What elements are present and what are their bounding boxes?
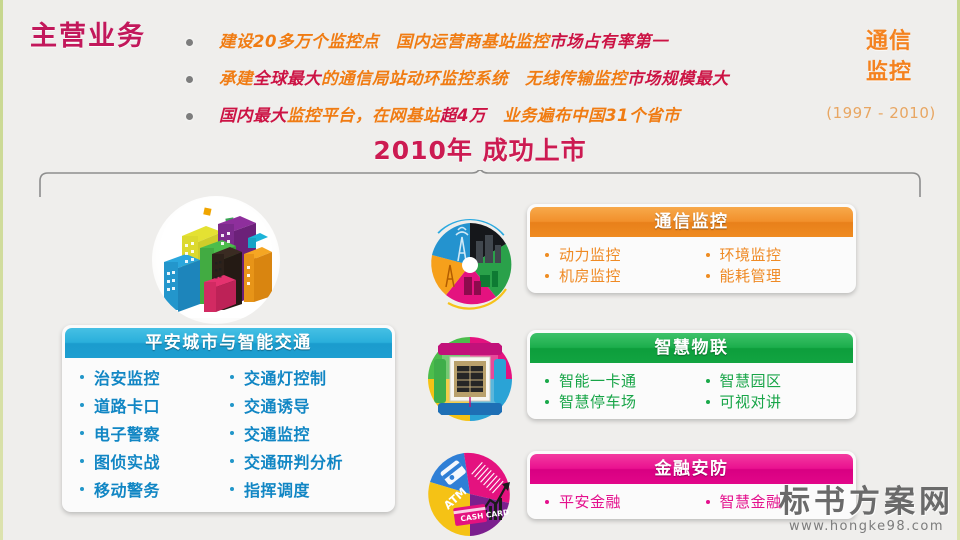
panel-item-label: 治安监控 — [94, 365, 160, 389]
bullet-segment: 国内最大 — [219, 106, 287, 125]
bullet-dot-icon — [186, 76, 193, 83]
panel-row: 道路卡口交通诱导 — [66, 393, 391, 417]
ipo-milestone-text: 2010年 成功上市 — [0, 131, 960, 167]
panel-item-label: 智能一卡通 — [559, 370, 637, 391]
panel-item[interactable]: 移动警务 — [66, 477, 216, 501]
panel-item[interactable]: 交通研判分析 — [216, 449, 391, 473]
panel-row: 图侦实战交通研判分析 — [66, 449, 391, 473]
grouping-brace — [38, 170, 922, 198]
bullet-line: 建设20多万个监控点 国内运营商基站监控市场占有率第一 — [186, 28, 866, 65]
item-dot-icon — [80, 403, 84, 407]
item-dot-icon — [545, 379, 549, 383]
panel-item[interactable]: 能耗管理 — [692, 265, 853, 286]
panel-item[interactable]: 智慧园区 — [692, 370, 853, 391]
panel-items-finance: 平安金融智慧金融 — [527, 484, 856, 519]
panel-title-finance: 金融安防 — [530, 454, 853, 484]
smart-card-icon — [424, 333, 516, 425]
panel-item[interactable]: 电子警察 — [66, 421, 216, 445]
panel-item-label: 能耗管理 — [720, 265, 782, 286]
panel-row: 智能一卡通智慧园区 — [531, 370, 852, 391]
item-dot-icon — [230, 375, 234, 379]
panel-item[interactable]: 可视对讲 — [692, 391, 853, 412]
year-range-label: (1997 - 2010) — [816, 104, 946, 122]
panel-item-label: 移动警务 — [94, 477, 160, 501]
item-dot-icon — [80, 431, 84, 435]
panel-item[interactable]: 平安金融 — [531, 491, 692, 512]
city-buildings-icon — [152, 196, 280, 324]
panel-item-label: 智慧停车场 — [559, 391, 637, 412]
item-dot-icon — [80, 375, 84, 379]
panel-item[interactable]: 指挥调度 — [216, 477, 391, 501]
panel-item-label: 智慧园区 — [720, 370, 782, 391]
panel-item[interactable]: 道路卡口 — [66, 393, 216, 417]
panel-row: 动力监控环境监控 — [531, 244, 852, 265]
panel-safe-city[interactable]: 平安城市与智能交通 治安监控交通灯控制道路卡口交通诱导电子警察交通监控图侦实战交… — [62, 325, 395, 512]
panel-items-safe-city: 治安监控交通灯控制道路卡口交通诱导电子警察交通监控图侦实战交通研判分析移动警务指… — [62, 358, 395, 512]
panel-title-safe-city: 平安城市与智能交通 — [65, 328, 392, 358]
bullet-segment — [379, 32, 396, 51]
panel-item-label: 智慧金融 — [720, 491, 782, 512]
panel-item-label: 交通监控 — [244, 421, 310, 445]
panel-item-label: 电子警察 — [94, 421, 160, 445]
item-dot-icon — [230, 431, 234, 435]
item-dot-icon — [545, 274, 549, 278]
bullet-segment: 建设20多万个监控点 — [219, 32, 379, 51]
bullet-segment: 市场规模最大 — [627, 69, 729, 88]
bullet-segment — [486, 106, 503, 125]
panel-item-label: 机房监控 — [559, 265, 621, 286]
panel-finance-security[interactable]: 金融安防 平安金融智慧金融 — [527, 451, 856, 519]
panel-items-iot: 智能一卡通智慧园区智慧停车场可视对讲 — [527, 363, 856, 419]
panel-row: 机房监控能耗管理 — [531, 265, 852, 286]
panel-items-telecom: 动力监控环境监控机房监控能耗管理 — [527, 237, 856, 293]
slide-canvas: 主营业务 建设20多万个监控点 国内运营商基站监控市场占有率第一承建全球最大的通… — [0, 0, 960, 540]
item-dot-icon — [545, 500, 549, 504]
item-dot-icon — [706, 379, 710, 383]
highlight-bullet-list: 建设20多万个监控点 国内运营商基站监控市场占有率第一承建全球最大的通信局站动环… — [186, 28, 866, 139]
bullet-segment: 全球最大 — [253, 69, 321, 88]
item-dot-icon — [706, 274, 710, 278]
panel-item-label: 道路卡口 — [94, 393, 160, 417]
panel-item[interactable]: 智慧停车场 — [531, 391, 692, 412]
finance-security-icon: ATM CASH CARD — [424, 448, 516, 540]
panel-item[interactable]: 交通监控 — [216, 421, 391, 445]
bullet-text: 建设20多万个监控点 国内运营商基站监控市场占有率第一 — [219, 28, 668, 56]
panel-item[interactable]: 交通灯控制 — [216, 365, 391, 389]
item-dot-icon — [80, 487, 84, 491]
watermark-url: www.hongke98.com — [779, 519, 954, 534]
bullet-segment: 市场占有率第一 — [549, 32, 668, 51]
panel-title-telecom: 通信监控 — [530, 207, 853, 237]
panel-item-label: 交通研判分析 — [244, 449, 343, 473]
item-dot-icon — [706, 500, 710, 504]
item-dot-icon — [80, 459, 84, 463]
panel-item[interactable]: 交通诱导 — [216, 393, 391, 417]
bullet-segment: 承建 — [219, 69, 253, 88]
item-dot-icon — [706, 253, 710, 257]
panel-telecom-monitoring[interactable]: 通信监控 动力监控环境监控机房监控能耗管理 — [527, 204, 856, 293]
panel-item-label: 动力监控 — [559, 244, 621, 265]
section-tag-line2: 监控 — [841, 57, 937, 88]
item-dot-icon — [706, 400, 710, 404]
item-dot-icon — [545, 400, 549, 404]
panel-item[interactable]: 动力监控 — [531, 244, 692, 265]
panel-item[interactable]: 图侦实战 — [66, 449, 216, 473]
panel-row: 治安监控交通灯控制 — [66, 365, 391, 389]
item-dot-icon — [230, 487, 234, 491]
section-tag: 通信 监控 — [841, 26, 937, 88]
bullet-text: 承建全球最大的通信局站动环监控系统 无线传输监控市场规模最大 — [219, 65, 729, 93]
bullet-segment — [508, 69, 525, 88]
panel-item[interactable]: 智能一卡通 — [531, 370, 692, 391]
panel-row: 移动警务指挥调度 — [66, 477, 391, 501]
bullet-text: 国内最大监控平台，在网基站超4万 业务遍布中国31个省市 — [219, 102, 680, 130]
bullet-segment: 超4万 — [440, 106, 486, 125]
panel-item-label: 交通灯控制 — [244, 365, 327, 389]
bullet-segment: 的通信局站动环监控系统 — [321, 69, 508, 88]
panel-item-label: 可视对讲 — [720, 391, 782, 412]
panel-item[interactable]: 治安监控 — [66, 365, 216, 389]
bullet-dot-icon — [186, 39, 193, 46]
panel-item-label: 环境监控 — [720, 244, 782, 265]
bullet-segment: 业务遍布中国31个省市 — [503, 106, 680, 125]
panel-row: 智慧停车场可视对讲 — [531, 391, 852, 412]
telecom-monitoring-icon — [424, 219, 516, 311]
bullet-dot-icon — [186, 113, 193, 120]
panel-item-label: 图侦实战 — [94, 449, 160, 473]
page-title: 主营业务 — [30, 14, 146, 53]
item-dot-icon — [230, 403, 234, 407]
item-dot-icon — [230, 459, 234, 463]
panel-item[interactable]: 环境监控 — [692, 244, 853, 265]
section-tag-line1: 通信 — [841, 26, 937, 57]
item-dot-icon — [545, 253, 549, 257]
bullet-line: 承建全球最大的通信局站动环监控系统 无线传输监控市场规模最大 — [186, 65, 866, 102]
bullet-segment: 国内运营商基站监控 — [396, 32, 549, 51]
panel-item-label: 平安金融 — [559, 491, 621, 512]
panel-title-iot: 智慧物联 — [530, 333, 853, 363]
bullet-segment: 无线传输监控 — [525, 69, 627, 88]
panel-row: 平安金融智慧金融 — [531, 491, 852, 512]
panel-item[interactable]: 智慧金融 — [692, 491, 853, 512]
bullet-segment: 监控平台，在网基站 — [287, 106, 440, 125]
panel-smart-iot[interactable]: 智慧物联 智能一卡通智慧园区智慧停车场可视对讲 — [527, 330, 856, 419]
panel-item[interactable]: 机房监控 — [531, 265, 692, 286]
panel-item-label: 指挥调度 — [244, 477, 310, 501]
panel-row: 电子警察交通监控 — [66, 421, 391, 445]
panel-item-label: 交通诱导 — [244, 393, 310, 417]
